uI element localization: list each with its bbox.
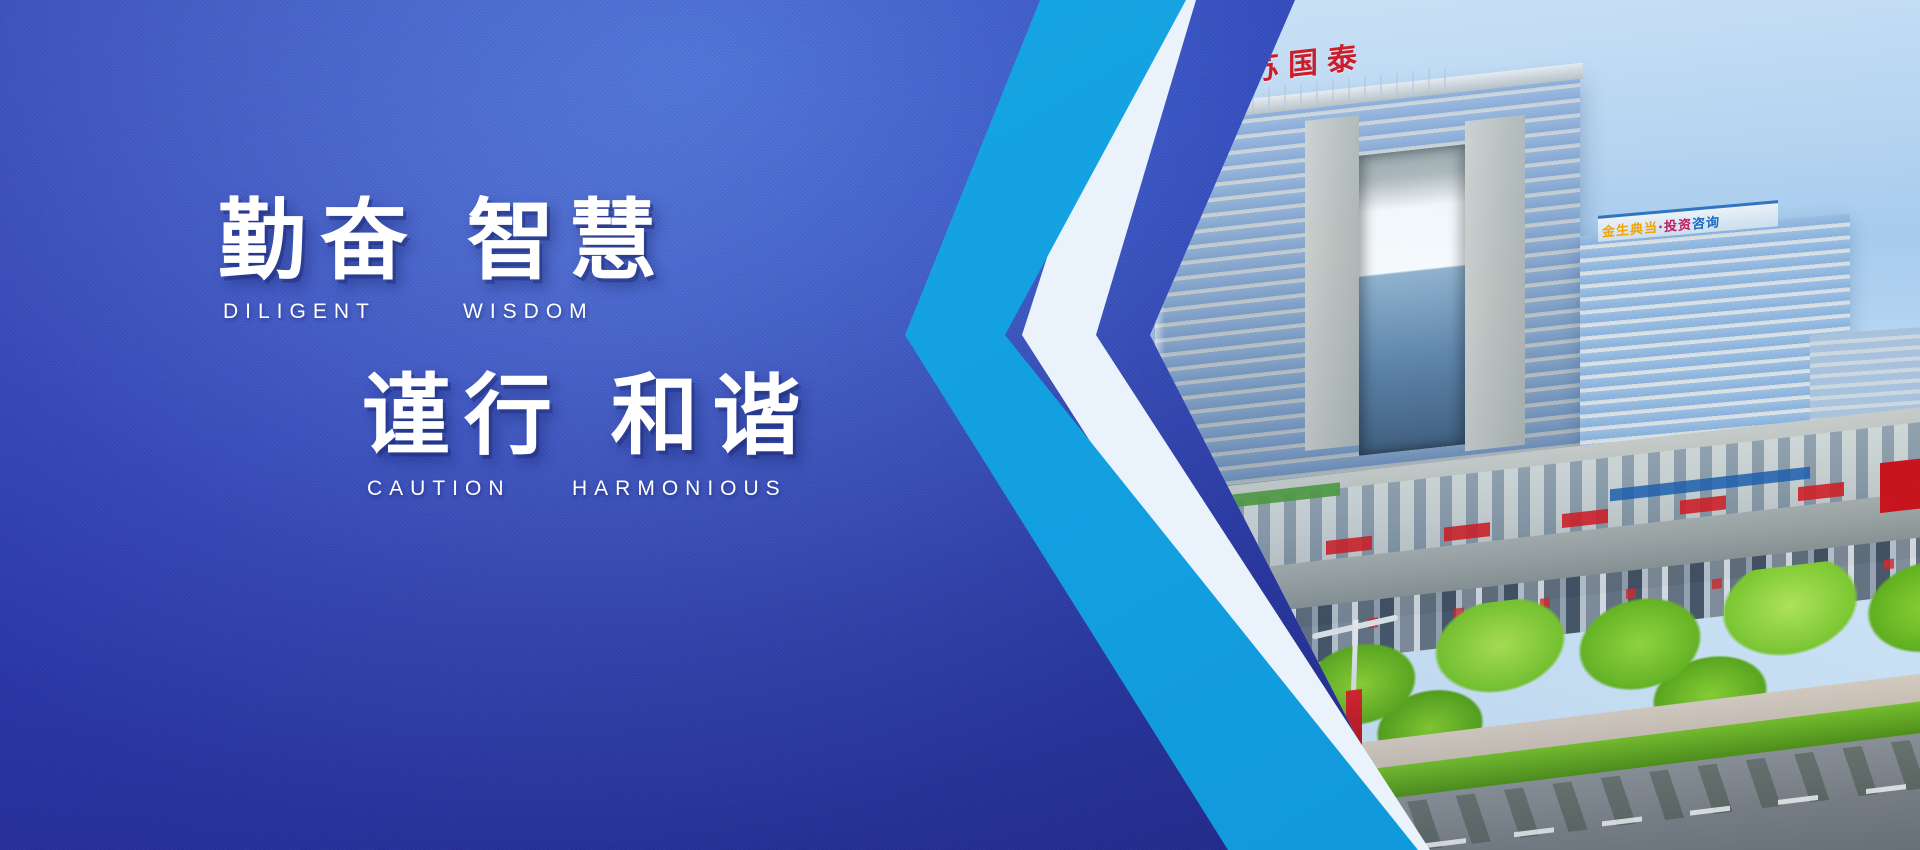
slogan-line2-english-left: CAUTION [367, 477, 511, 501]
slogan-line2-chinese: 谨行 和谐 [362, 372, 815, 460]
slogan-line1-english-right: WISDOM [463, 300, 594, 324]
slogan-line1-english-left: DILIGENT [223, 300, 376, 324]
slogan-block: 勤奋 智慧 DILIGENT WISDOM 谨行 和谐 CAUTION HARM… [0, 0, 1000, 850]
slogan-line1-chinese: 勤奋 智慧 [218, 197, 671, 285]
company-culture-banner: 江苏国泰 金生典当·投资咨询 [0, 0, 1920, 850]
slogan-line2-english-right: HARMONIOUS [572, 477, 787, 501]
